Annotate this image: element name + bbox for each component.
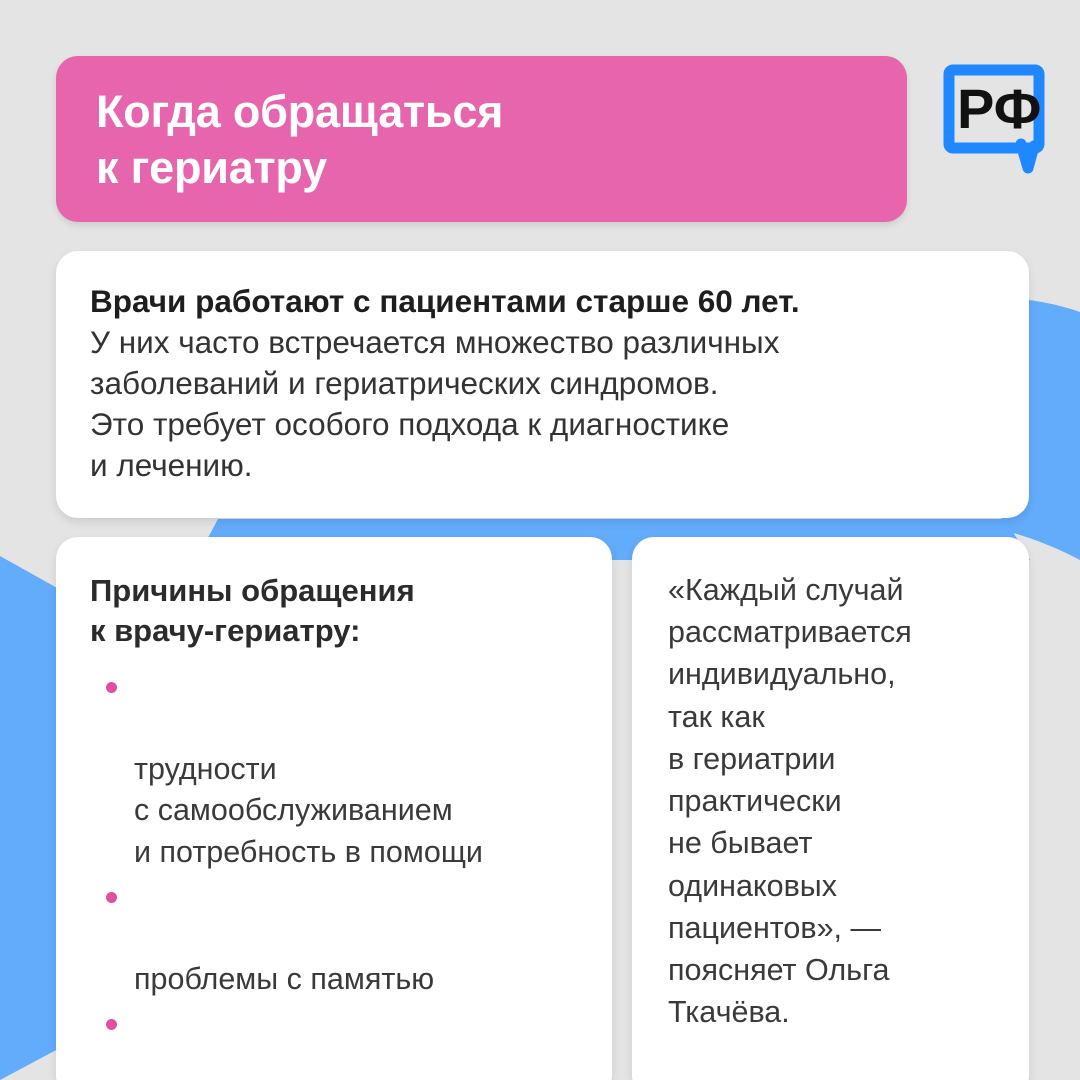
title-card: Когда обращаться к гериатру: [56, 56, 907, 222]
list-item-label: проблемы с памятью: [134, 962, 434, 996]
quote-text: «Каждый случай рассматривается индивидуа…: [668, 569, 1003, 1034]
intro-lead: Врачи работают с пациентами старше 60 ле…: [90, 283, 800, 319]
infographic-poster: Когда обращаться к гериатру РФ Врачи раб…: [0, 0, 1080, 1080]
bullet-dot-icon: [106, 682, 117, 693]
page-title: Когда обращаться к гериатру: [96, 84, 867, 196]
list-item: проблемы с памятью: [90, 876, 590, 1001]
quote-card: «Каждый случай рассматривается индивидуа…: [632, 537, 1029, 1080]
intro-paragraph: Врачи работают с пациентами старше 60 ле…: [90, 281, 993, 486]
list-item: ухудшение слуха и зрения: [90, 1003, 590, 1080]
intro-body: У них часто встречается множество различ…: [90, 324, 779, 483]
bullet-dot-icon: [106, 892, 117, 903]
rf-speech-bubble-logo[interactable]: РФ: [933, 56, 1055, 176]
intro-card: Врачи работают с пациентами старше 60 ле…: [56, 251, 1029, 518]
logo-text: РФ: [957, 77, 1041, 140]
list-item-label: трудности с самообслуживанием и потребно…: [134, 752, 483, 869]
reasons-heading: Причины обращения к врачу-гериатру:: [90, 571, 590, 652]
reasons-list: трудности с самообслуживанием и потребно…: [90, 666, 590, 1080]
bullet-dot-icon: [106, 1019, 117, 1030]
reasons-card: Причины обращения к врачу-гериатру: труд…: [56, 537, 612, 1080]
header: Когда обращаться к гериатру РФ: [56, 56, 1060, 222]
list-item: трудности с самообслуживанием и потребно…: [90, 666, 590, 874]
